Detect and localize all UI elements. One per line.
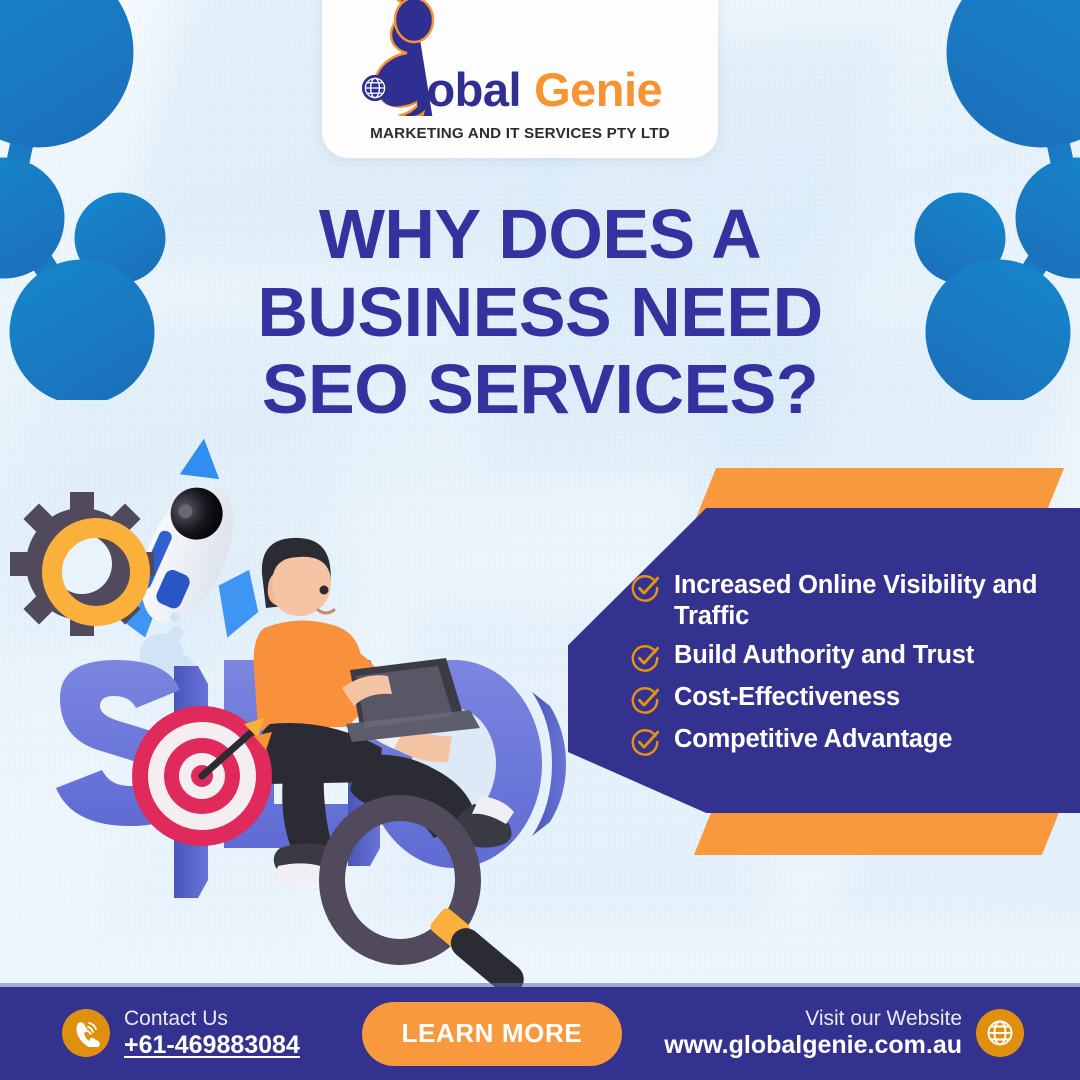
page-title: WHY DOES A BUSINESS NEED SEO SERVICES? [0, 196, 1080, 429]
website-url[interactable]: www.globalgenie.com.au [664, 1031, 962, 1060]
gear-icon [10, 492, 154, 636]
benefits-panel: Increased Online Visibility and Traffic … [568, 508, 1080, 813]
headline-line-2: BUSINESS NEED [0, 274, 1080, 352]
brand-logo-card: Global Genie MARKETING AND IT SERVICES P… [322, 0, 718, 158]
contact-block[interactable]: Contact Us +61-469883084 [62, 1007, 300, 1060]
contact-phone-number[interactable]: +61-469883084 [124, 1031, 300, 1060]
list-item: Competitive Advantage [630, 724, 1062, 757]
headline-line-1: WHY DOES A [0, 196, 1080, 274]
seo-services-promo-poster: Global Genie MARKETING AND IT SERVICES P… [0, 0, 1080, 1080]
list-item: Cost-Effectiveness [630, 682, 1062, 715]
globe-logo-icon [361, 74, 389, 102]
headline-line-3: SEO SERVICES? [0, 351, 1080, 429]
logo-text-global: Global [378, 66, 521, 113]
target-dartboard-icon [132, 706, 272, 846]
check-circle-icon [630, 573, 660, 603]
benefit-label: Increased Online Visibility and Traffic [674, 570, 1059, 631]
logo-tagline: MARKETING AND IT SERVICES PTY LTD [370, 125, 670, 142]
benefit-label: Build Authority and Trust [674, 640, 974, 671]
seo-illustration [0, 430, 620, 990]
contact-label: Contact Us [124, 1007, 300, 1031]
globe-icon [976, 1009, 1024, 1057]
benefit-label: Cost-Effectiveness [674, 682, 900, 713]
website-label: Visit our Website [805, 1007, 962, 1031]
website-block[interactable]: Visit our Website www.globalgenie.com.au [664, 1007, 1024, 1060]
check-circle-icon [630, 727, 660, 757]
list-item: Build Authority and Trust [630, 640, 1062, 673]
benefit-label: Competitive Advantage [674, 724, 952, 755]
footer-bar: Contact Us +61-469883084 LEARN MORE Visi… [0, 987, 1080, 1080]
list-item: Increased Online Visibility and Traffic [630, 570, 1062, 631]
learn-more-button[interactable]: LEARN MORE [362, 1002, 622, 1066]
logo-text-genie: Genie [534, 66, 662, 113]
logo-wordmark: Global Genie [322, 58, 718, 120]
check-circle-icon [630, 685, 660, 715]
check-circle-icon [630, 643, 660, 673]
phone-icon [62, 1009, 110, 1057]
